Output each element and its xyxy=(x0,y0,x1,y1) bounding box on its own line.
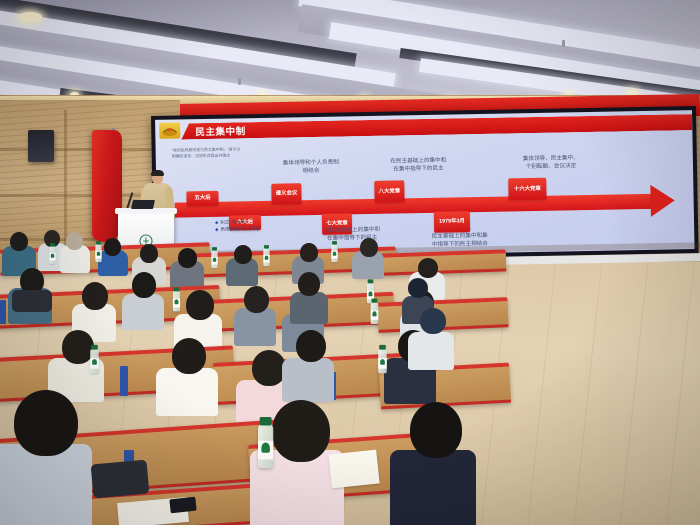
water-bottle xyxy=(263,248,269,266)
timeline-node-0: 五大后 xyxy=(186,191,218,207)
water-bottle xyxy=(90,349,99,374)
water-bottle xyxy=(49,246,55,264)
timeline-node-6: 十六大党章 xyxy=(508,178,546,201)
party-emblem-icon xyxy=(159,122,180,138)
sprinkler-icon xyxy=(562,40,565,47)
water-bottle xyxy=(173,291,180,312)
wall-speaker xyxy=(28,130,54,162)
camera-bag xyxy=(91,460,150,499)
water-bottle xyxy=(331,244,337,262)
timeline-arrow-shaft xyxy=(175,194,653,218)
slide-title: 民主集中制 xyxy=(195,123,246,138)
slide-column-text-2: 在民主基础上的集中和在集中指导下的民主 xyxy=(361,156,476,174)
timeline-node-5: 1979年3月 xyxy=(434,211,470,233)
slide-column-text-3: 集体领导、民主集中、个别酝酿、会议决定 xyxy=(486,153,616,171)
diamond-bullet-icon: ◆ xyxy=(215,226,219,233)
notebook xyxy=(328,450,379,489)
water-bottle xyxy=(378,349,387,374)
timeline-node-2: 遵义会议 xyxy=(271,183,301,205)
slide-title-bar xyxy=(181,114,692,139)
laptop xyxy=(131,200,155,209)
sprinkler-icon xyxy=(238,78,241,85)
slide-column-text-1: 集体领导和个人负责制相结合 xyxy=(256,158,366,176)
ceiling-spotlight xyxy=(18,12,42,22)
seat-back-blue xyxy=(120,366,128,396)
speaker-hair xyxy=(151,170,164,176)
projection-screen-bezel: 民主集中制 “党的指导原则是为民主集中制。”首次以明确的语言、法规形式提出并确立… xyxy=(151,106,699,263)
timeline-arrow-head xyxy=(650,184,675,216)
slide-caption-mid: 在民主基础上的集中和在集中指导下的民主 xyxy=(297,225,407,243)
water-bottle xyxy=(258,424,273,468)
water-bottle xyxy=(95,244,101,262)
slide-left-note: “党的指导原则是为民主集中制。”首次以明确的语言、法规形式提出并确立 xyxy=(172,146,242,159)
backpack xyxy=(12,290,52,312)
water-bottle xyxy=(211,250,217,268)
lecture-hall-photo: 民主集中制 “党的指导原则是为民主集中制。”首次以明确的语言、法规形式提出并确立… xyxy=(0,0,700,525)
smartphone xyxy=(169,497,196,514)
timeline-node-4: 八大党章 xyxy=(374,180,404,203)
seat-back-blue xyxy=(0,300,6,324)
projection-screen: 民主集中制 “党的指导原则是为民主集中制。”首次以明确的语言、法规形式提出并确立… xyxy=(155,110,694,259)
water-bottle xyxy=(371,302,379,324)
